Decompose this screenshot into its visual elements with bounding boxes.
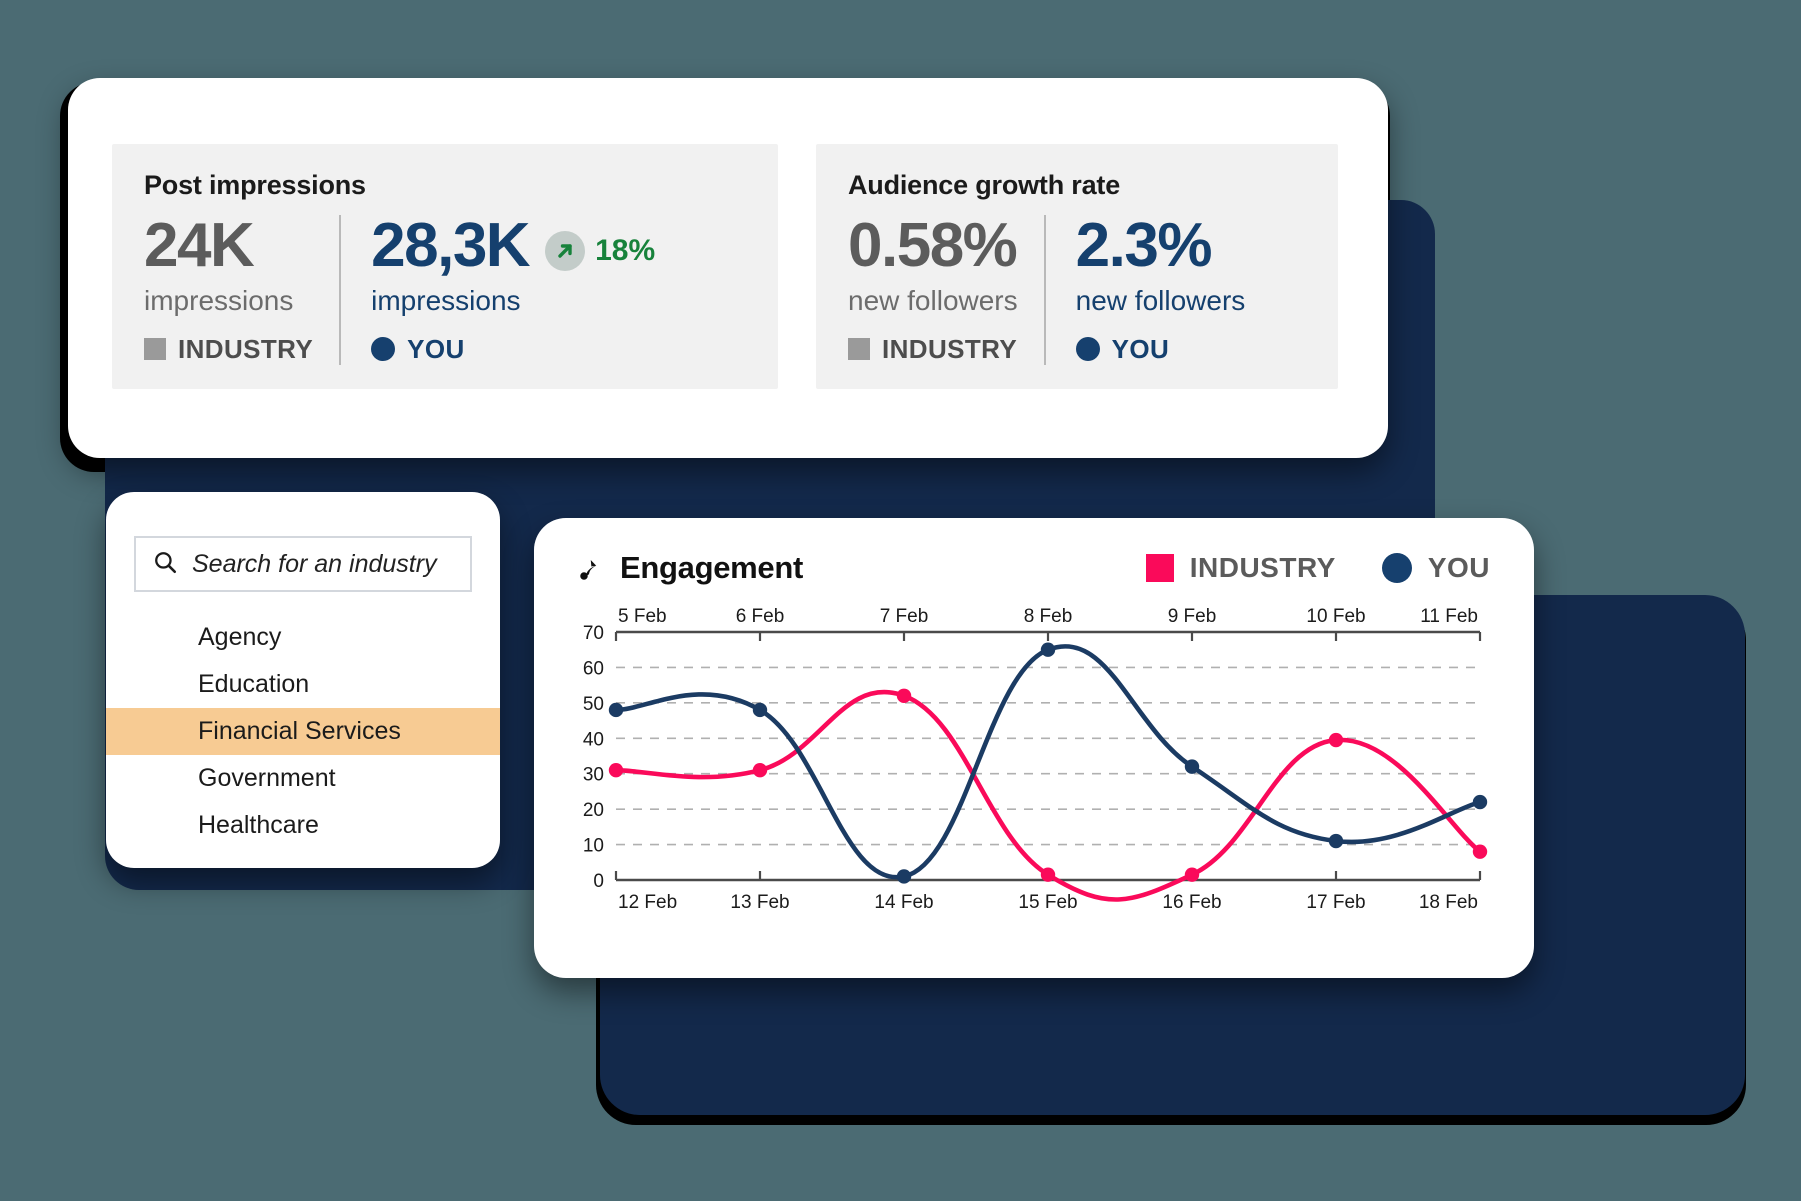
legend-industry-square-icon xyxy=(1146,554,1174,582)
audience-growth-you-legend: YOU xyxy=(1076,334,1246,365)
post-impressions-industry-legend: INDUSTRY xyxy=(144,334,313,365)
audience-growth-you-unit: new followers xyxy=(1076,281,1246,322)
post-impressions-industry-column: 24K impressions INDUSTRY xyxy=(144,215,339,365)
data-point[interactable] xyxy=(1473,844,1487,858)
search-icon xyxy=(152,549,178,580)
audience-growth-industry-legend-label: INDUSTRY xyxy=(882,334,1017,365)
x-tick-label-top: 5 Feb xyxy=(618,606,667,627)
y-tick-label: 50 xyxy=(583,694,604,715)
post-impressions-industry-unit: impressions xyxy=(144,281,313,322)
search-input-text: Search for an industry xyxy=(192,550,437,579)
audience-growth-you-value: 2.3% xyxy=(1076,215,1246,277)
x-tick-label-top: 6 Feb xyxy=(736,606,785,627)
search-input[interactable]: Search for an industry xyxy=(134,536,472,592)
post-impressions-title: Post impressions xyxy=(144,170,746,201)
x-tick-label-bottom: 15 Feb xyxy=(1018,892,1077,913)
industry-list-item[interactable]: Agency xyxy=(106,614,500,661)
y-tick-label: 70 xyxy=(583,623,604,644)
y-tick-label: 40 xyxy=(583,729,604,750)
x-tick-label-bottom: 18 Feb xyxy=(1419,892,1478,913)
x-tick-label-bottom: 14 Feb xyxy=(874,892,933,913)
post-impressions-you-unit: impressions xyxy=(371,281,655,322)
industry-list-item-label: Financial Services xyxy=(198,717,401,745)
industry-list-item[interactable]: Financial Services xyxy=(106,708,500,755)
engagement-note-icon xyxy=(574,553,604,583)
data-point[interactable] xyxy=(609,703,623,717)
y-tick-label: 10 xyxy=(583,836,604,857)
legend-industry-label: INDUSTRY xyxy=(1190,552,1336,584)
legend-item-industry[interactable]: INDUSTRY xyxy=(1146,552,1336,584)
x-tick-label-top: 10 Feb xyxy=(1306,606,1365,627)
engagement-chart-card: Engagement INDUSTRY YOU 0102030405060705… xyxy=(534,518,1534,978)
data-point[interactable] xyxy=(1329,834,1343,848)
y-tick-label: 0 xyxy=(593,871,604,892)
data-point[interactable] xyxy=(1473,795,1487,809)
industry-list-item-label: Agency xyxy=(198,623,281,651)
audience-growth-industry-unit: new followers xyxy=(848,281,1018,322)
you-swatch-circle-icon xyxy=(1076,337,1100,361)
x-tick-label-top: 11 Feb xyxy=(1420,606,1478,627)
x-tick-label-bottom: 12 Feb xyxy=(618,892,677,913)
post-impressions-delta-text: 18% xyxy=(595,234,655,268)
engagement-plot-svg: 0102030405060705 Feb6 Feb7 Feb8 Feb9 Feb… xyxy=(558,602,1494,932)
x-tick-label-top: 8 Feb xyxy=(1024,606,1073,627)
data-point[interactable] xyxy=(897,869,911,883)
industry-list-item-label: Education xyxy=(198,670,309,698)
data-point[interactable] xyxy=(897,689,911,703)
arrow-up-right-icon xyxy=(545,231,585,271)
audience-growth-columns: 0.58% new followers INDUSTRY 2.3% new fo… xyxy=(848,215,1306,365)
y-tick-label: 20 xyxy=(583,800,604,821)
audience-growth-industry-column: 0.58% new followers INDUSTRY xyxy=(848,215,1044,365)
data-point[interactable] xyxy=(1329,733,1343,747)
post-impressions-industry-legend-label: INDUSTRY xyxy=(178,334,313,365)
post-impressions-panel: Post impressions 24K impressions INDUSTR… xyxy=(112,144,778,389)
y-tick-label: 60 xyxy=(583,658,604,679)
audience-growth-you-legend-label: YOU xyxy=(1112,334,1170,365)
series-line-you xyxy=(616,646,1480,877)
industry-list: AgencyEducationFinancial ServicesGovernm… xyxy=(106,614,500,849)
audience-growth-panel: Audience growth rate 0.58% new followers… xyxy=(816,144,1338,389)
audience-growth-industry-value: 0.58% xyxy=(848,215,1018,277)
audience-growth-industry-legend: INDUSTRY xyxy=(848,334,1018,365)
data-point[interactable] xyxy=(1185,867,1199,881)
data-point[interactable] xyxy=(753,763,767,777)
data-point[interactable] xyxy=(753,703,767,717)
industry-picker-card: Search for an industry AgencyEducationFi… xyxy=(106,492,500,868)
engagement-plot: 0102030405060705 Feb6 Feb7 Feb8 Feb9 Feb… xyxy=(558,602,1494,932)
industry-list-item-label: Government xyxy=(198,764,336,792)
audience-growth-title: Audience growth rate xyxy=(848,170,1306,201)
x-tick-label-bottom: 13 Feb xyxy=(730,892,789,913)
post-impressions-industry-value: 24K xyxy=(144,215,313,277)
post-impressions-you-value: 28,3K xyxy=(371,215,529,277)
post-impressions-you-value-line: 28,3K 18% xyxy=(371,215,655,277)
legend-you-label: YOU xyxy=(1428,552,1490,584)
post-impressions-you-legend: YOU xyxy=(371,334,655,365)
x-tick-label-bottom: 16 Feb xyxy=(1162,892,1221,913)
industry-list-item[interactable]: Government xyxy=(106,755,500,802)
x-tick-label-bottom: 17 Feb xyxy=(1306,892,1365,913)
engagement-header: Engagement INDUSTRY YOU xyxy=(534,518,1534,586)
industry-swatch-square-icon xyxy=(144,338,166,360)
industry-swatch-square-icon xyxy=(848,338,870,360)
legend-item-you[interactable]: YOU xyxy=(1382,552,1490,584)
post-impressions-you-column: 28,3K 18% impressions xyxy=(339,215,681,365)
data-point[interactable] xyxy=(1041,867,1055,881)
post-impressions-delta: 18% xyxy=(545,231,655,271)
you-swatch-circle-icon xyxy=(371,337,395,361)
data-point[interactable] xyxy=(609,763,623,777)
metrics-row: Post impressions 24K impressions INDUSTR… xyxy=(68,78,1388,389)
data-point[interactable] xyxy=(1185,759,1199,773)
engagement-legend: INDUSTRY YOU xyxy=(1146,552,1490,584)
industry-list-item[interactable]: Healthcare xyxy=(106,802,500,849)
engagement-title: Engagement xyxy=(620,550,803,586)
metrics-card: Post impressions 24K impressions INDUSTR… xyxy=(68,78,1388,458)
industry-list-item-label: Healthcare xyxy=(198,811,319,839)
x-tick-label-top: 7 Feb xyxy=(880,606,929,627)
legend-you-circle-icon xyxy=(1382,553,1412,583)
x-tick-label-top: 9 Feb xyxy=(1168,606,1217,627)
post-impressions-you-legend-label: YOU xyxy=(407,334,465,365)
post-impressions-columns: 24K impressions INDUSTRY 28,3K xyxy=(144,215,746,365)
data-point[interactable] xyxy=(1041,643,1055,657)
audience-growth-you-column: 2.3% new followers YOU xyxy=(1044,215,1272,365)
industry-list-item[interactable]: Education xyxy=(106,661,500,708)
y-tick-label: 30 xyxy=(583,765,604,786)
